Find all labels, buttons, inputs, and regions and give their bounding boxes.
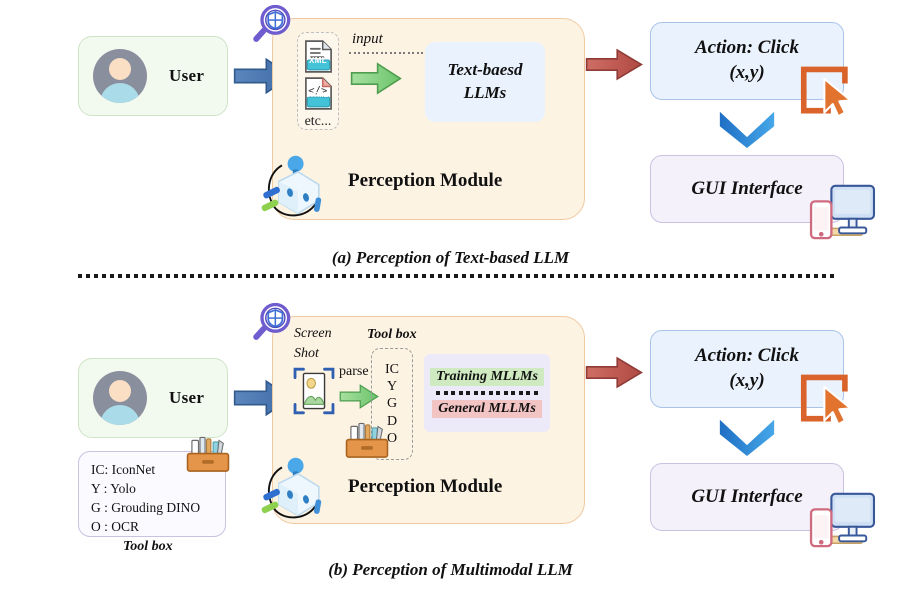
arrow-perception-to-action-b — [585, 356, 643, 389]
etc-label-a: etc... — [305, 114, 332, 130]
chevron-down-icon-b — [718, 418, 776, 456]
screenshot-label-line1: Screen — [294, 326, 332, 342]
input-label-a: input — [352, 31, 383, 48]
robot-mascot-icon-b — [258, 454, 330, 524]
user-label-a: User — [169, 66, 204, 86]
panel-separator — [78, 274, 826, 278]
screenshot-label-line2: Shot — [294, 346, 319, 362]
user-box-a[interactable]: User — [78, 36, 228, 116]
html-badge-label: HTML — [300, 92, 336, 99]
magnifier-shield-icon-b — [252, 302, 292, 342]
training-mllms-chip[interactable]: Training MLLMs — [430, 368, 544, 386]
user-avatar-icon — [93, 371, 147, 425]
mllm-box[interactable]: Training MLLMs General MLLMs — [424, 354, 550, 432]
mllm-divider-dots — [436, 389, 538, 397]
action-line2: (x,y) — [729, 61, 764, 86]
user-avatar-icon — [93, 49, 147, 103]
screenshot-frame-icon — [292, 365, 336, 417]
document-stack-a: etc... — [297, 32, 339, 130]
perception-module-title-b: Perception Module — [348, 476, 502, 498]
parse-label: parse — [339, 364, 369, 380]
devices-monitor-phone-icon-a — [808, 182, 878, 242]
robot-mascot-icon-a — [258, 152, 330, 222]
action-line1: Action: Click — [695, 36, 799, 61]
panel-text-based-llm: User etc... XML HTML input Text-baesd LL… — [0, 0, 901, 296]
action-line1: Action: Click — [695, 344, 799, 369]
toolbox-icon-legend — [186, 436, 230, 474]
action-line2: (x,y) — [729, 369, 764, 394]
user-label-b: User — [169, 388, 204, 408]
toolbox-title-b: Tool box — [367, 327, 417, 343]
caption-b: (b) Perception of Multimodal LLM — [0, 560, 901, 580]
legend-row: Y : Yolo — [91, 479, 215, 498]
click-cursor-icon-b — [796, 370, 862, 428]
arrow-perception-to-action-a — [585, 48, 643, 81]
chevron-down-icon-a — [718, 110, 776, 148]
arrow-input-green-a — [350, 62, 402, 95]
legend-row: O : OCR — [91, 517, 215, 536]
legend-row: G : Grouding DINO — [91, 498, 215, 517]
devices-monitor-phone-icon-b — [808, 490, 878, 550]
toolbox-icon-b — [345, 422, 389, 460]
llm-line1: Text-baesd — [448, 59, 523, 82]
magnifier-shield-icon-a — [252, 4, 292, 44]
caption-a: (a) Perception of Text-based LLM — [0, 248, 901, 268]
panel-multimodal-llm: User IC: IconNet Y : Yolo G : Grouding D… — [0, 296, 901, 592]
xml-badge-label: XML — [300, 56, 336, 65]
llm-line2: LLMs — [464, 82, 507, 105]
toolbox-item: Y — [387, 378, 397, 395]
toolbox-legend-caption: Tool box — [123, 539, 173, 555]
general-mllms-chip[interactable]: General MLLMs — [432, 400, 542, 418]
user-box-b[interactable]: User — [78, 358, 228, 438]
perception-module-title-a: Perception Module — [348, 170, 502, 192]
toolbox-item: IC — [385, 361, 399, 378]
gui-label-a: GUI Interface — [691, 178, 802, 200]
toolbox-item: G — [387, 395, 397, 412]
click-cursor-icon-a — [796, 62, 862, 120]
text-based-llm-box[interactable]: Text-baesd LLMs — [425, 42, 545, 122]
gui-label-b: GUI Interface — [691, 486, 802, 508]
